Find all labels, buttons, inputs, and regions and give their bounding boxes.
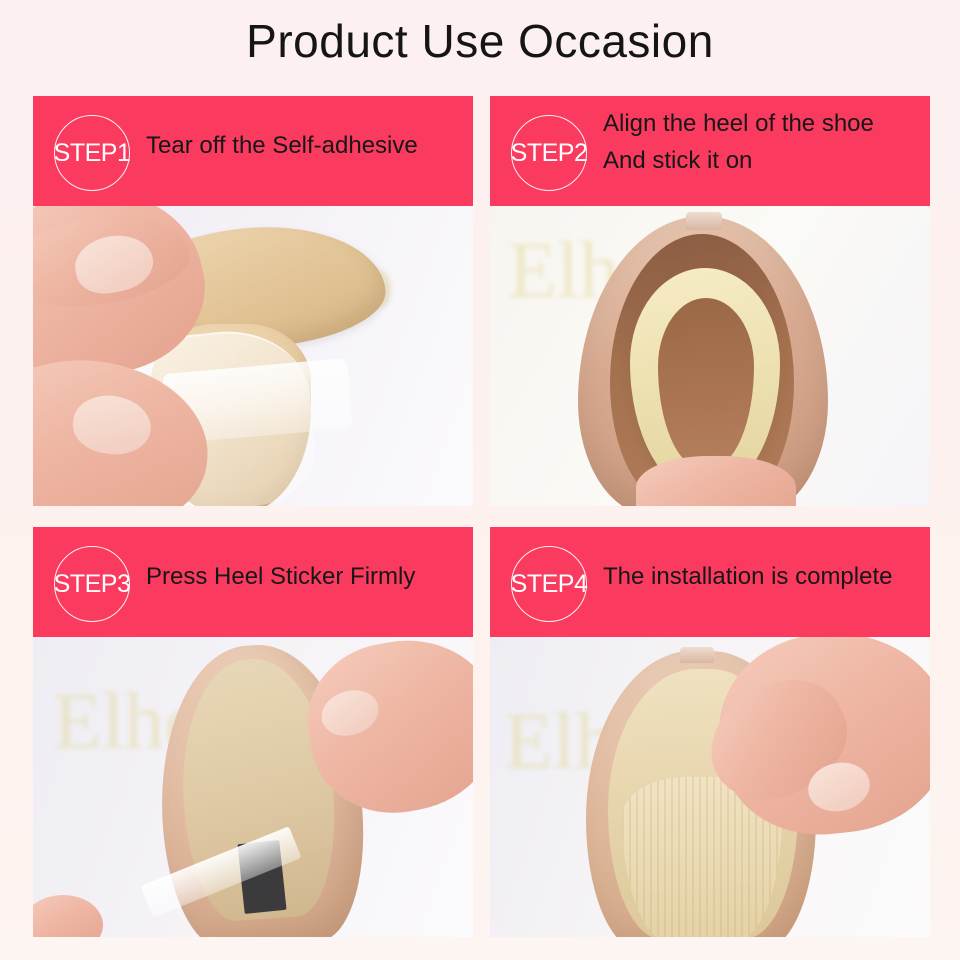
step-photo-3: Elho (33, 637, 473, 937)
step-banner-text-3: Press Heel Sticker Firmly (146, 527, 466, 627)
step-text-line1: Tear off the Self-adhesive (146, 127, 466, 164)
step-banner-2: STEP2 Align the heel of the shoe And sti… (490, 96, 930, 209)
step-banner-3: STEP3 Press Heel Sticker Firmly (33, 527, 473, 640)
step-banner-4: STEP4 The installation is complete (490, 527, 930, 640)
page-title: Product Use Occasion (0, 14, 960, 68)
step-badge-3: STEP3 (54, 546, 130, 622)
step-text-line1: Align the heel of the shoe (603, 105, 923, 142)
step-text-line1: Press Heel Sticker Firmly (146, 558, 466, 595)
step-text-line2: And stick it on (603, 142, 923, 179)
step-badge-1: STEP1 (54, 115, 130, 191)
step-banner-text-2: Align the heel of the shoe And stick it … (603, 96, 923, 192)
infographic-page: Product Use Occasion STEP1 Tear off the … (0, 0, 960, 960)
step-photo-4: Elho (490, 637, 930, 937)
step-card-1: STEP1 Tear off the Self-adhesive Elho (33, 96, 473, 506)
step-banner-1: STEP1 Tear off the Self-adhesive (33, 96, 473, 209)
step-card-2: STEP2 Align the heel of the shoe And sti… (490, 96, 930, 506)
step-badge-2: STEP2 (511, 115, 587, 191)
step-photo-1: Elho (33, 206, 473, 506)
step-card-4: STEP4 The installation is complete Elho (490, 527, 930, 937)
step-photo-2: Elho (490, 206, 930, 506)
step-card-3: STEP3 Press Heel Sticker Firmly Elho (33, 527, 473, 937)
step-banner-text-4: The installation is complete (603, 527, 923, 627)
step-text-line1: The installation is complete (603, 558, 923, 595)
step-badge-4: STEP4 (511, 546, 587, 622)
step-banner-text-1: Tear off the Self-adhesive (146, 96, 466, 196)
